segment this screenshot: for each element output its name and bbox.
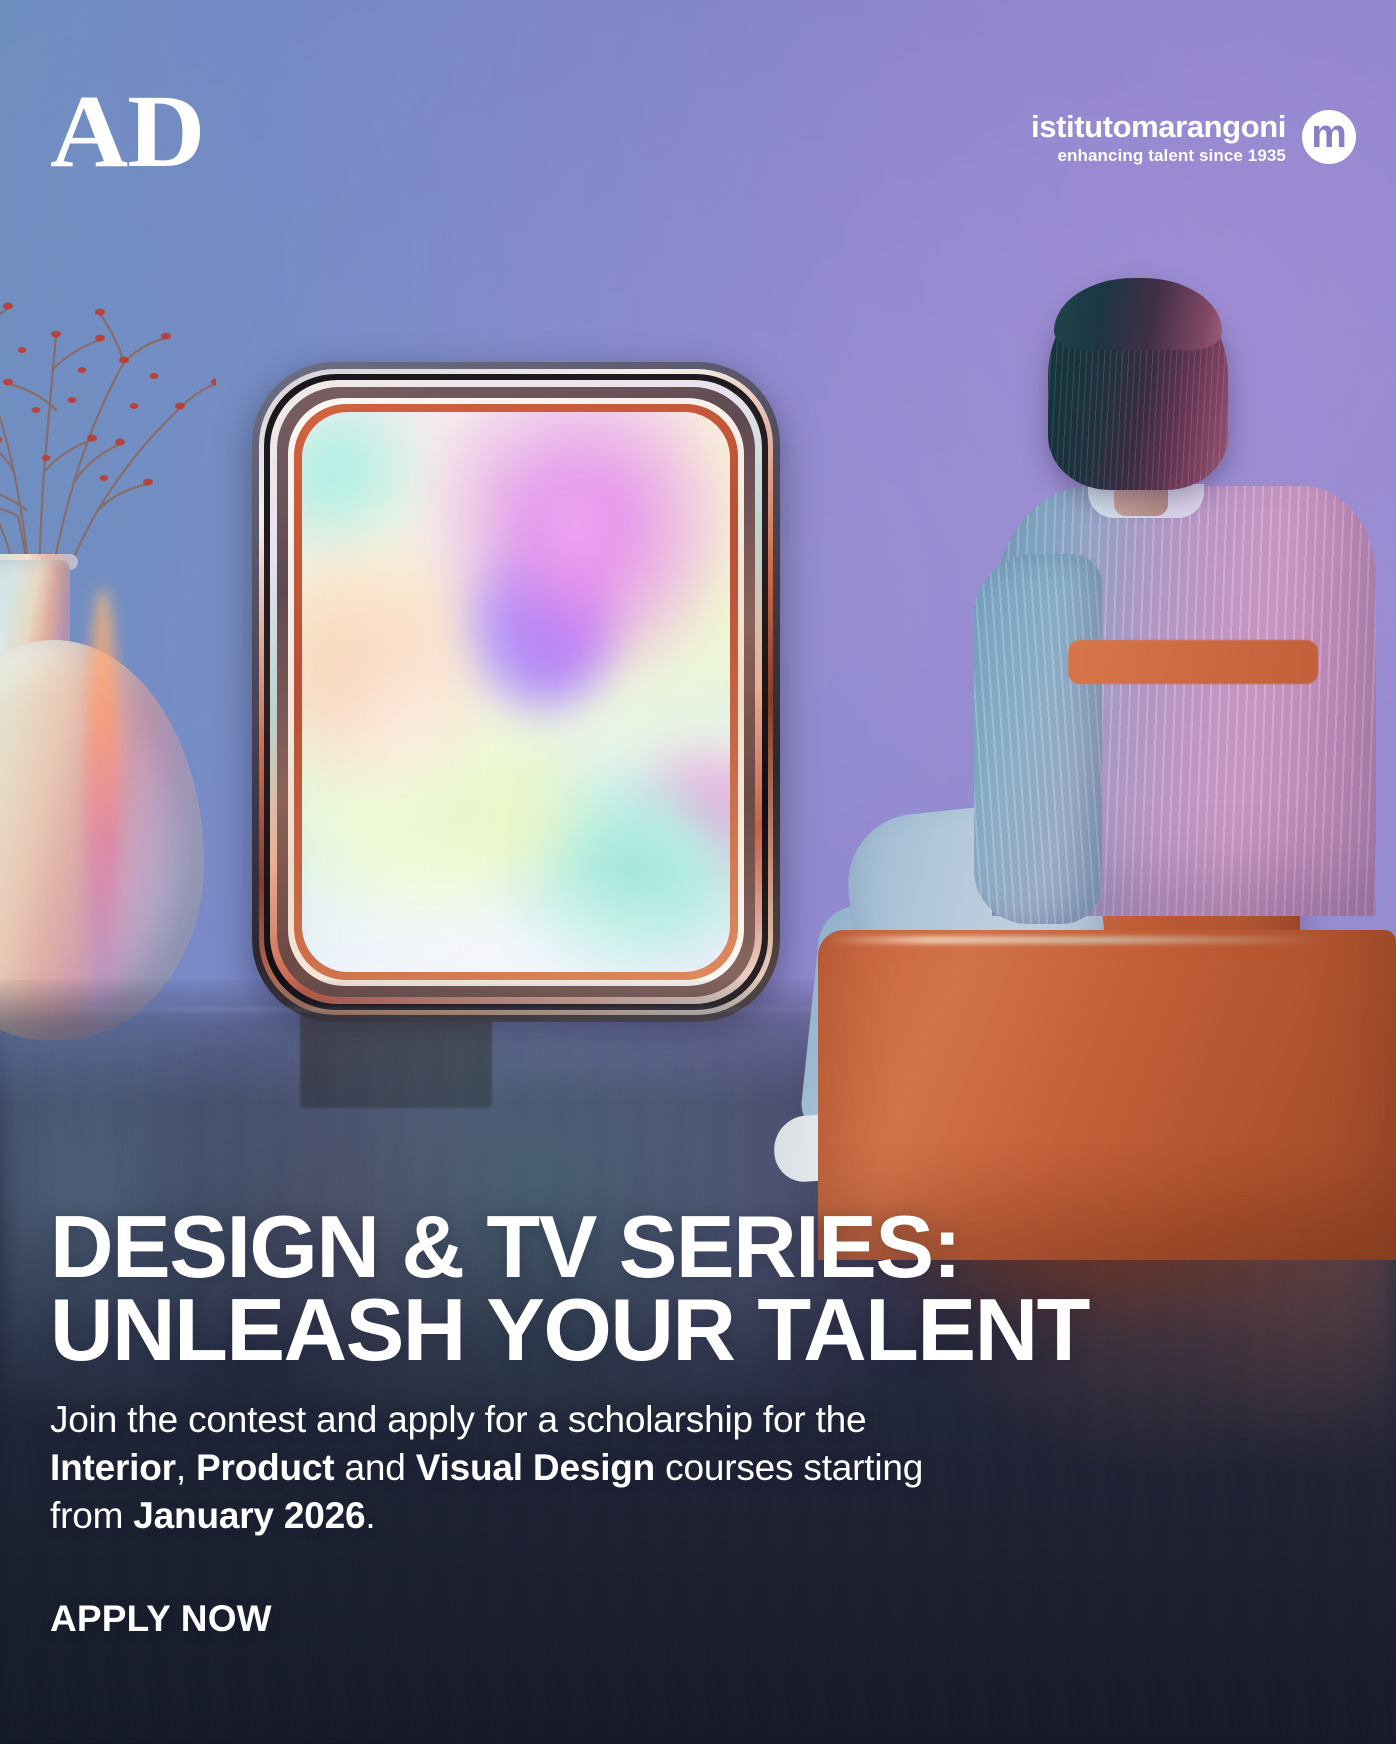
retro-television	[252, 362, 780, 1022]
headline: DESIGN & TV SERIES: UNLEASH YOUR TALENT	[50, 1206, 1200, 1371]
line3-lead: from	[50, 1495, 133, 1536]
subheadline: Join the contest and apply for a scholar…	[50, 1396, 1200, 1540]
person-arm	[974, 554, 1102, 924]
marangoni-m-badge-icon: m	[1302, 110, 1356, 164]
istituto-marangoni-wordmark: istitutomarangoni enhancing talent since…	[1031, 111, 1286, 164]
conjunction-and: and	[334, 1447, 415, 1488]
course-visual-design: Visual Design	[416, 1447, 655, 1488]
partner-tagline: enhancing talent since 1935	[1031, 147, 1286, 164]
screen-glass-gloss	[302, 412, 730, 972]
start-date: January 2026	[133, 1495, 365, 1536]
course-interior: Interior	[50, 1447, 176, 1488]
sep-1: ,	[176, 1447, 196, 1488]
person-hair-crown	[1054, 278, 1222, 350]
poster-header: AD istitutomarangoni enhancing talent si…	[0, 0, 1396, 210]
armchair-edge-glint	[826, 936, 1326, 944]
subheadline-line-2: Interior, Product and Visual Design cour…	[50, 1444, 1200, 1492]
line2-tail: courses starting	[655, 1447, 923, 1488]
armchair-arm	[1068, 640, 1318, 684]
subheadline-line-3: from January 2026.	[50, 1492, 1200, 1540]
headline-line-2: UNLEASH YOUR TALENT	[50, 1289, 1200, 1372]
advertisement-poster: AD istitutomarangoni enhancing talent si…	[0, 0, 1396, 1744]
partner-name: istitutomarangoni	[1031, 111, 1286, 142]
line3-tail: .	[365, 1495, 375, 1536]
apply-now-button[interactable]: APPLY NOW	[50, 1598, 272, 1640]
course-product: Product	[196, 1447, 334, 1488]
monogram-letter: m	[1311, 119, 1347, 149]
headline-line-1: DESIGN & TV SERIES:	[50, 1206, 1200, 1289]
subheadline-line-1: Join the contest and apply for a scholar…	[50, 1396, 1200, 1444]
istituto-marangoni-logo[interactable]: istitutomarangoni enhancing talent since…	[1031, 110, 1356, 164]
vase-iridescence	[86, 588, 120, 1028]
ad-magazine-logo[interactable]: AD	[50, 84, 204, 180]
tv-screen	[302, 412, 730, 972]
copy-block: DESIGN & TV SERIES: UNLEASH YOUR TALENT …	[50, 1206, 1200, 1744]
copy-bottom-spacer	[50, 1640, 1200, 1744]
